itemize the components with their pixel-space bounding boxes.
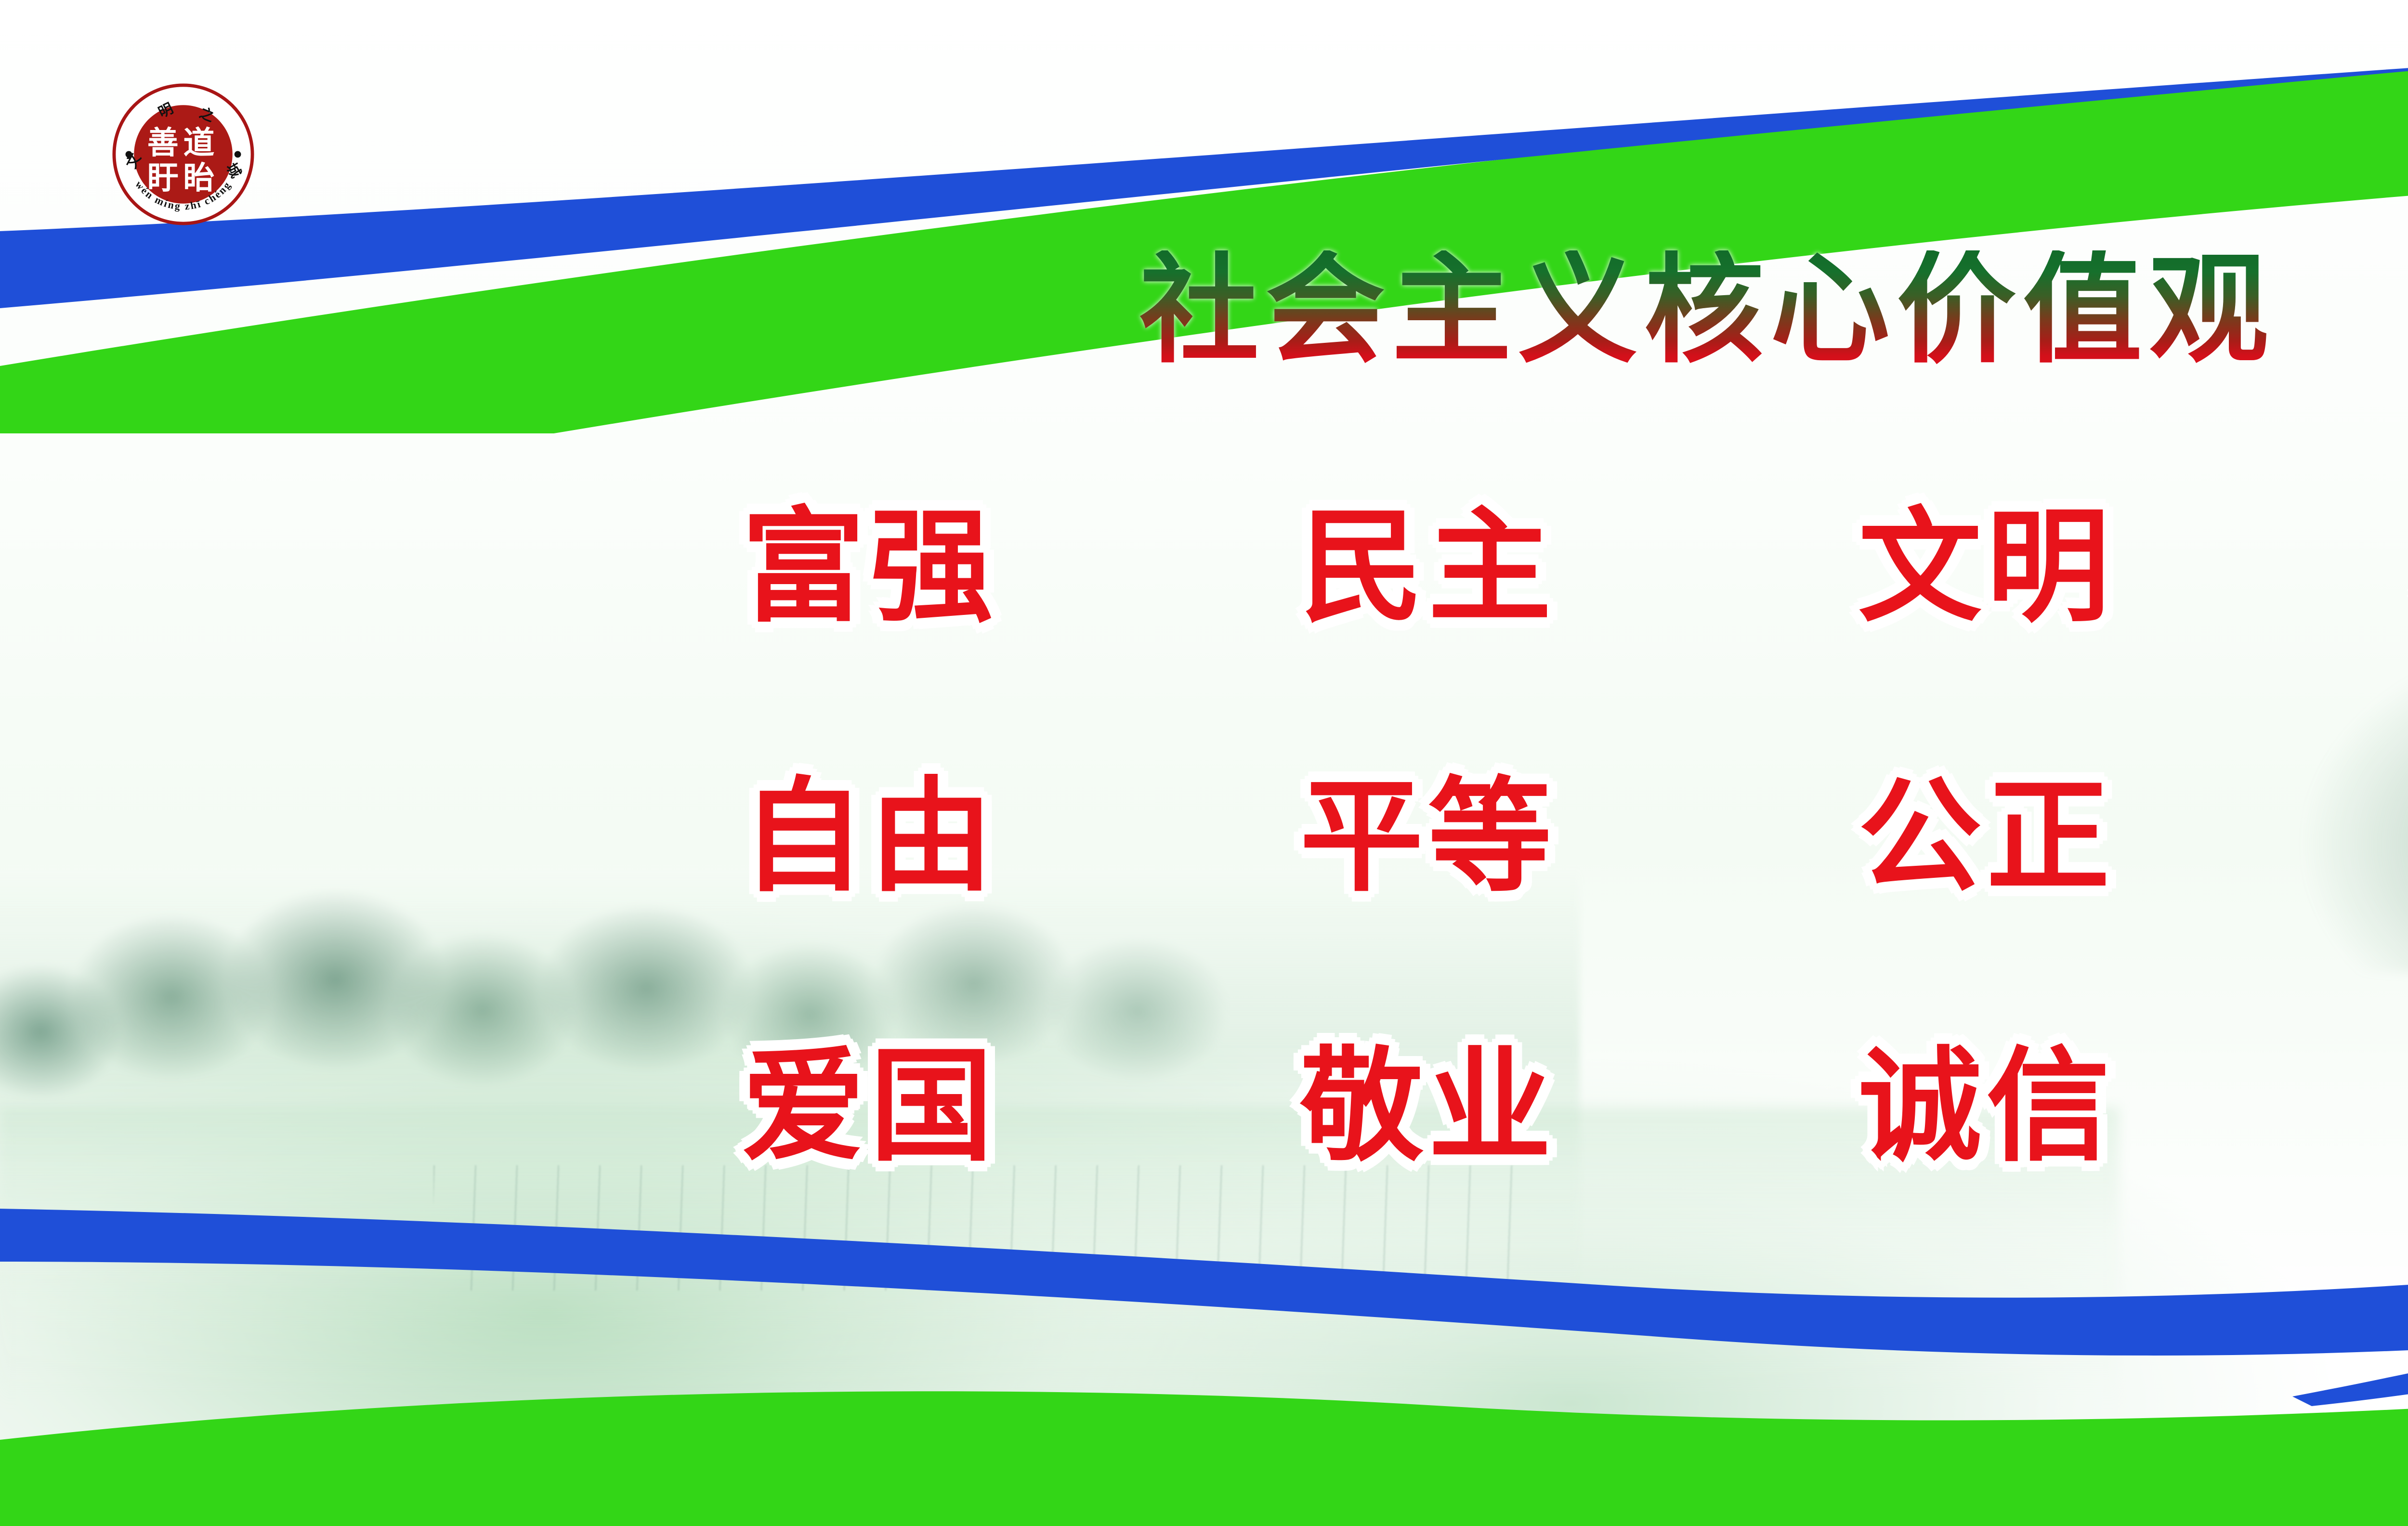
- slogan-word: 诚信: [1858, 1045, 2115, 1168]
- slogan-word: 平等: [1300, 775, 1556, 899]
- page-title: 社会主义核心价值观: [881, 250, 2408, 370]
- logo-center-char-3: 眙: [183, 160, 215, 196]
- slogan-word: 民主: [1300, 506, 1556, 629]
- logo-dot-right: [235, 151, 241, 158]
- slogan-word: 富强: [742, 506, 998, 629]
- slogan-word: 敬业: [1300, 1045, 1556, 1168]
- field-poles: [433, 1165, 1541, 1291]
- city-emblem-logo: 文 明 之 城 善 道 盱 眙 wén míng zhī chéng: [112, 83, 254, 225]
- slogan-word: 公正: [1858, 775, 2115, 899]
- slogan-line-2: 自由 平等 公正 法治: [742, 775, 2408, 899]
- slogan-line-3: 爱国 敬业 诚信 友善: [742, 1045, 2408, 1168]
- slogan-word: 文明: [1858, 506, 2115, 629]
- slogan-word: 爱国: [742, 1045, 998, 1168]
- logo-center-char-0: 善: [147, 125, 179, 161]
- signboard: 文 明 之 城 善 道 盱 眙 wén míng zhī chéng 社会主义核…: [0, 0, 2408, 1526]
- slogan-line-1: 富强 民主 文明 和谐: [742, 506, 2408, 629]
- logo-center-char-1: 道: [183, 125, 215, 161]
- slogan-word: 自由: [742, 775, 998, 899]
